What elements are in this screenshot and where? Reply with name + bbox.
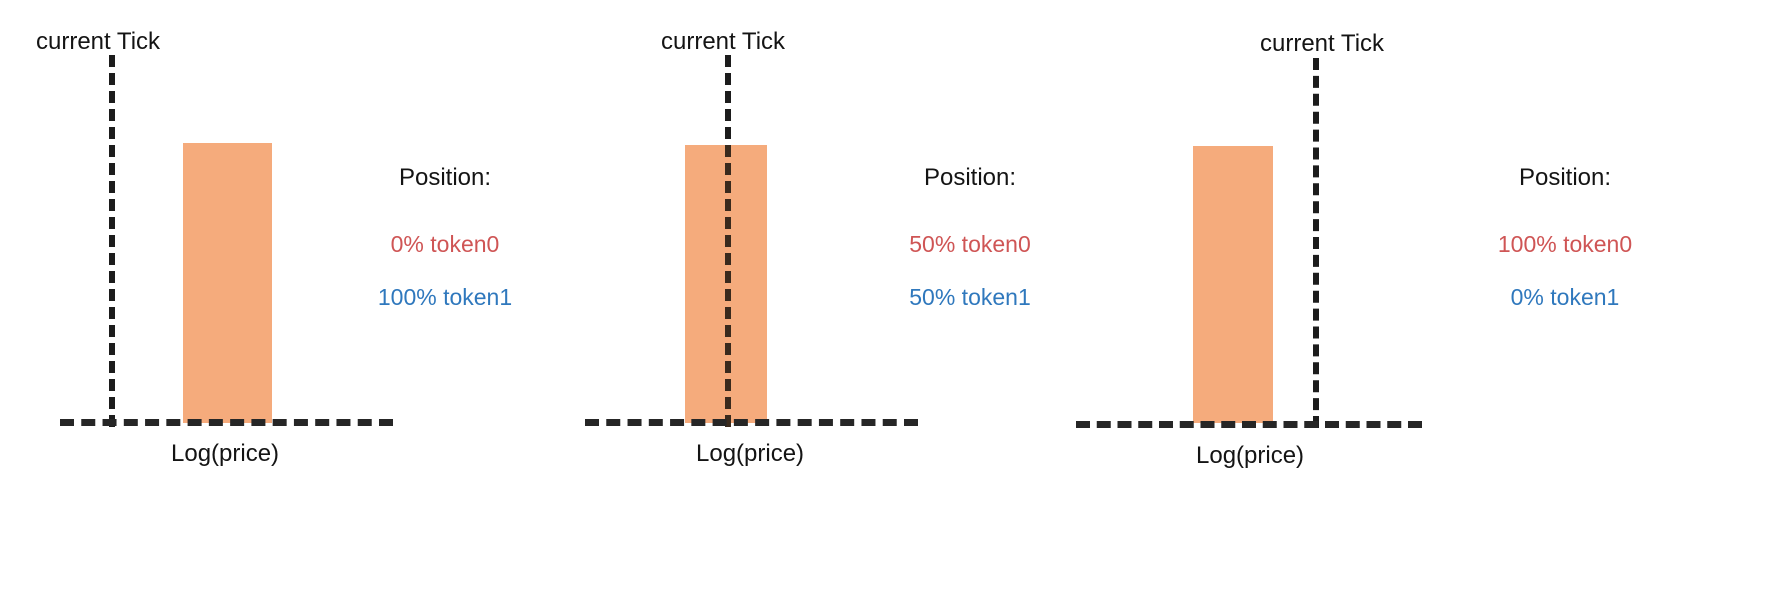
token0-share-label: 100% token0	[1460, 233, 1670, 256]
log-price-axis	[60, 419, 393, 426]
position-legend-title: Position:	[340, 166, 550, 190]
position-legend: Position: 0% token0 100% token1	[340, 166, 550, 309]
token1-share-label: 100% token1	[340, 286, 550, 309]
token0-share-label: 0% token0	[340, 233, 550, 256]
x-axis-label: Log(price)	[1196, 444, 1304, 468]
panel-left: current Tick Log(price) Position: 0% tok…	[0, 0, 560, 500]
position-legend: Position: 100% token0 0% token1	[1460, 166, 1670, 309]
token1-share-label: 0% token1	[1460, 286, 1670, 309]
liquidity-bar	[1193, 146, 1273, 423]
current-tick-line	[109, 55, 115, 427]
current-tick-label: current Tick	[1260, 32, 1384, 56]
current-tick-line	[1313, 58, 1319, 428]
x-axis-label: Log(price)	[171, 442, 279, 466]
position-legend-title: Position:	[1460, 166, 1670, 190]
panel-right: current Tick Log(price) Position: 100% t…	[1020, 0, 1580, 500]
current-tick-line-overlay	[725, 145, 731, 427]
x-axis-label: Log(price)	[696, 442, 804, 466]
current-tick-label: current Tick	[661, 30, 785, 54]
panel-center: current Tick Log(price) Position: 50% to…	[525, 0, 1085, 500]
log-price-axis	[1076, 421, 1422, 428]
log-price-axis	[585, 419, 918, 426]
figure-canvas: current Tick Log(price) Position: 0% tok…	[0, 0, 1774, 600]
current-tick-label: current Tick	[36, 30, 160, 54]
liquidity-bar	[183, 143, 272, 423]
